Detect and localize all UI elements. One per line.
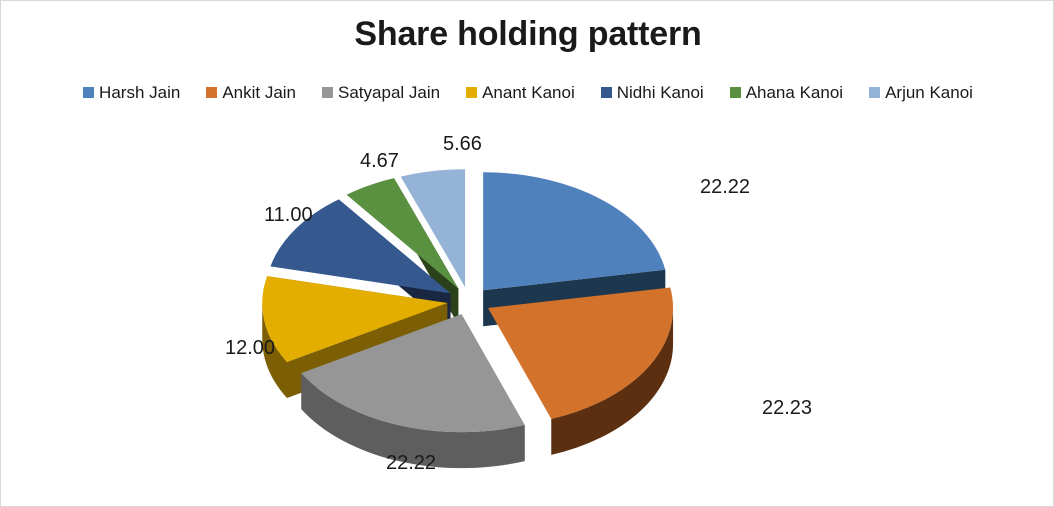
legend-swatch-icon bbox=[730, 87, 741, 98]
chart-title: Share holding pattern bbox=[1, 15, 1054, 54]
pie-chart-plot-area: 22.22 22.23 22.22 12.00 11.00 4.67 5.66 bbox=[1, 113, 1054, 506]
legend-swatch-icon bbox=[869, 87, 880, 98]
legend-item-harsh-jain[interactable]: Harsh Jain bbox=[83, 84, 180, 101]
legend-swatch-icon bbox=[206, 87, 217, 98]
legend-item-label: Harsh Jain bbox=[99, 84, 180, 101]
legend-item-label: Nidhi Kanoi bbox=[617, 84, 704, 101]
data-label-arjun-kanoi: 5.66 bbox=[443, 134, 482, 154]
legend-swatch-icon bbox=[322, 87, 333, 98]
legend-item-label: Ankit Jain bbox=[222, 84, 296, 101]
data-label-anant-kanoi: 12.00 bbox=[225, 338, 275, 358]
legend-item-satyapal-jain[interactable]: Satyapal Jain bbox=[322, 84, 440, 101]
data-label-harsh-jain: 22.22 bbox=[700, 177, 750, 197]
data-label-ahana-kanoi: 4.67 bbox=[360, 151, 399, 171]
legend-item-nidhi-kanoi[interactable]: Nidhi Kanoi bbox=[601, 84, 704, 101]
legend-item-arjun-kanoi[interactable]: Arjun Kanoi bbox=[869, 84, 973, 101]
legend-swatch-icon bbox=[601, 87, 612, 98]
legend-item-ankit-jain[interactable]: Ankit Jain bbox=[206, 84, 296, 101]
chart-legend: Harsh Jain Ankit Jain Satyapal Jain Anan… bbox=[1, 84, 1054, 101]
legend-item-label: Anant Kanoi bbox=[482, 84, 575, 101]
chart-container: Share holding pattern Harsh Jain Ankit J… bbox=[0, 0, 1054, 507]
pie-slice-harsh-jain[interactable] bbox=[483, 172, 665, 290]
data-label-nidhi-kanoi: 11.00 bbox=[264, 205, 313, 225]
pie-chart-svg bbox=[1, 113, 1054, 506]
legend-item-ahana-kanoi[interactable]: Ahana Kanoi bbox=[730, 84, 843, 101]
legend-swatch-icon bbox=[83, 87, 94, 98]
legend-item-anant-kanoi[interactable]: Anant Kanoi bbox=[466, 84, 575, 101]
data-label-ankit-jain: 22.23 bbox=[762, 398, 812, 418]
legend-swatch-icon bbox=[466, 87, 477, 98]
data-label-satyapal-jain: 22.22 bbox=[386, 453, 436, 473]
legend-item-label: Satyapal Jain bbox=[338, 84, 440, 101]
legend-item-label: Ahana Kanoi bbox=[746, 84, 843, 101]
legend-item-label: Arjun Kanoi bbox=[885, 84, 973, 101]
